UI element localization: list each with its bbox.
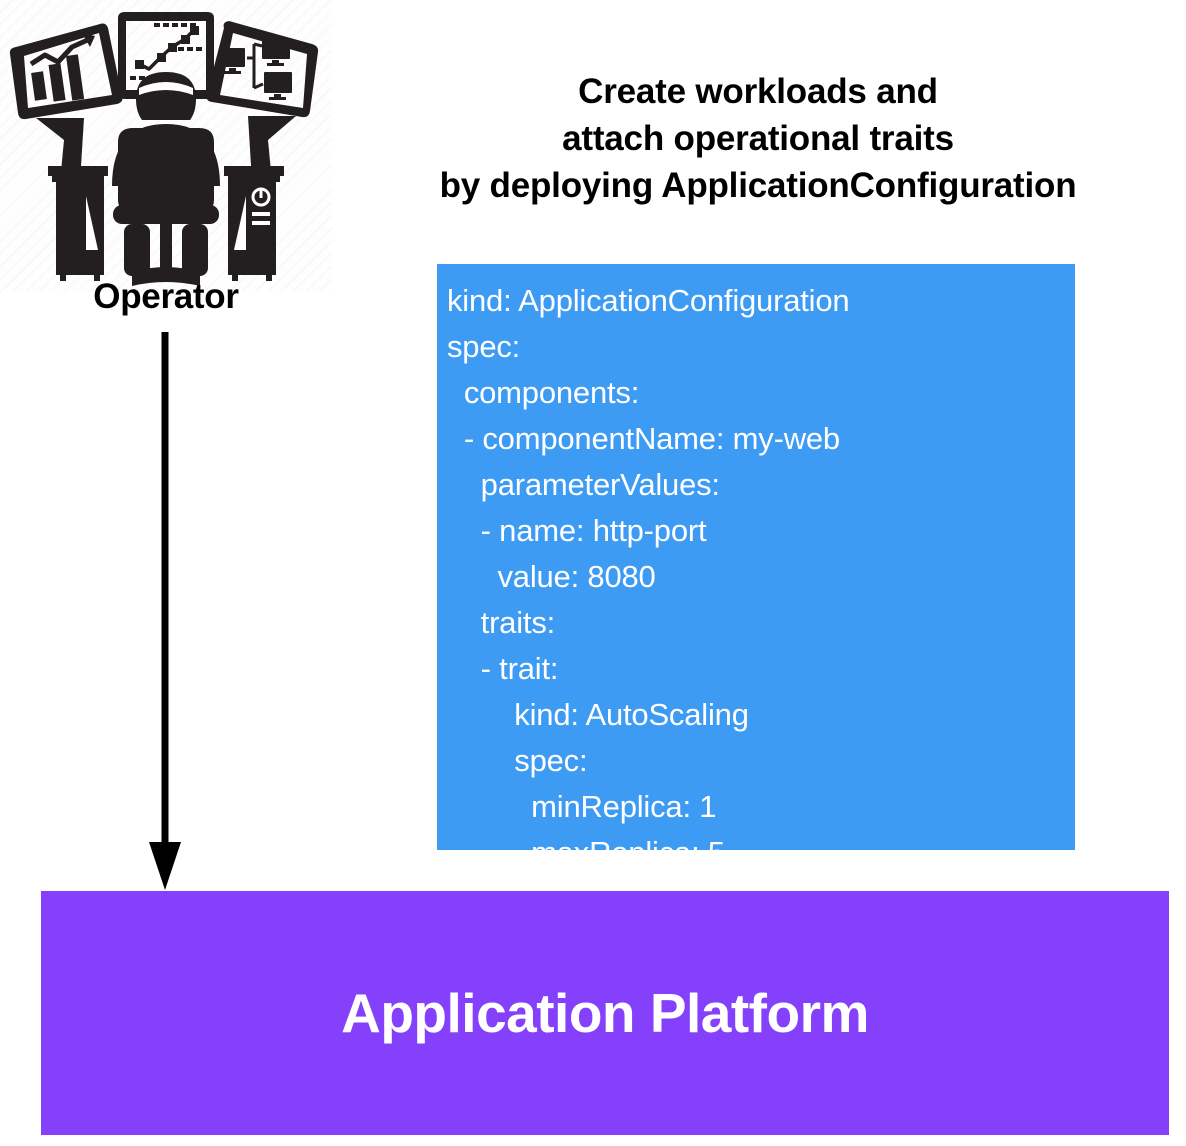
code-line: spec: [447, 324, 1075, 370]
code-line: kind: AutoScaling [447, 692, 1075, 738]
code-line: - name: http-port [447, 508, 1075, 554]
code-line: - trait: [447, 646, 1075, 692]
code-line: maxReplica: 5 [447, 830, 1075, 876]
code-line: spec: [447, 738, 1075, 784]
operator-label: Operator [0, 277, 332, 317]
code-line: components: [447, 370, 1075, 416]
headline-line-2: attach operational traits [336, 115, 1180, 162]
code-line: - componentName: my-web [447, 416, 1075, 462]
headline-line-1: Create workloads and [336, 68, 1180, 115]
diagram-canvas: Operator Create workloads and attach ope… [0, 0, 1186, 1146]
code-line: traits: [447, 600, 1075, 646]
headline-line-3: by deploying ApplicationConfiguration [336, 162, 1180, 209]
code-line: kind: ApplicationConfiguration [447, 278, 1075, 324]
application-configuration-yaml-card: kind: ApplicationConfiguration spec: com… [437, 264, 1075, 850]
code-line: value: 8080 [447, 554, 1075, 600]
page-title: Create workloads and attach operational … [336, 68, 1180, 209]
code-line: parameterValues: [447, 462, 1075, 508]
code-line: minReplica: 1 [447, 784, 1075, 830]
operator-workstation-icon [0, 0, 332, 292]
application-platform-title: Application Platform [341, 981, 869, 1045]
application-platform-box: Application Platform [41, 891, 1169, 1135]
operator-to-platform-arrow [130, 330, 200, 892]
